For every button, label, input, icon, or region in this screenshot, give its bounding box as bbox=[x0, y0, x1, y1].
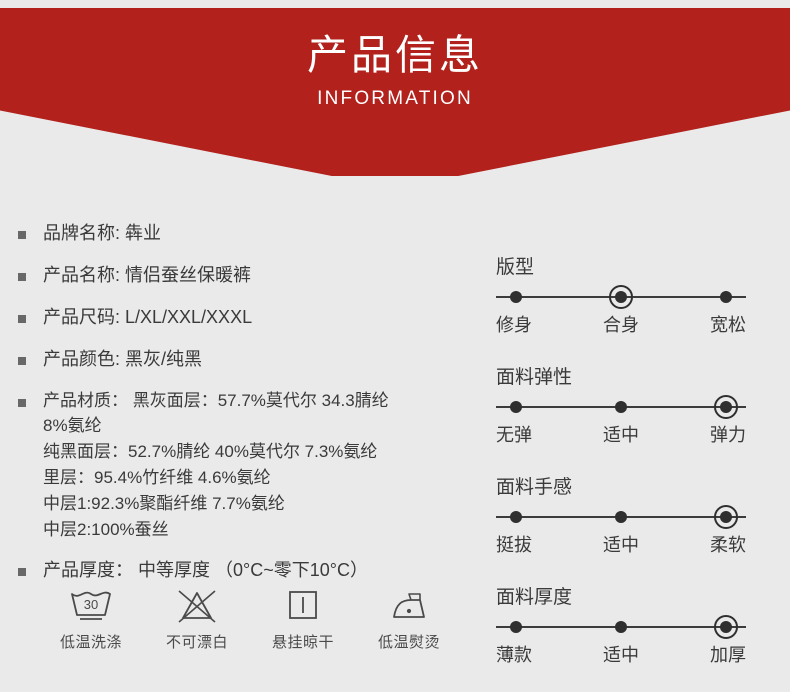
care-item-dry: 悬挂晾干 bbox=[260, 586, 346, 652]
care-label-dry: 悬挂晾干 bbox=[260, 631, 346, 652]
slider-option-thickness-2[interactable]: 加厚 bbox=[710, 641, 746, 667]
iron-one-dot-icon bbox=[366, 586, 452, 628]
spec-row-material: 产品材质： 黑灰面层：57.7%莫代尔 34.3腈纶 8%氨纶 纯黑面层：52.… bbox=[18, 388, 468, 543]
slider-group-fit: 版型 修身 合身 宽松 bbox=[496, 252, 746, 337]
slider-title-fit: 版型 bbox=[496, 252, 746, 279]
slider-labels-thickness: 薄款 适中 加厚 bbox=[496, 641, 746, 667]
slider-dot-elasticity-0[interactable] bbox=[510, 401, 522, 413]
slider-group-thickness: 面料厚度 薄款 适中 加厚 bbox=[496, 582, 746, 667]
no-bleach-triangle-icon bbox=[154, 586, 240, 628]
bullet-square-icon bbox=[18, 231, 26, 239]
slider-dot-handfeel-1[interactable] bbox=[615, 511, 627, 523]
slider-option-elasticity-1[interactable]: 适中 bbox=[603, 421, 639, 447]
slider-option-handfeel-2[interactable]: 柔软 bbox=[710, 531, 746, 557]
slider-option-thickness-1[interactable]: 适中 bbox=[603, 641, 639, 667]
wash-tub-30-icon: 30 bbox=[48, 586, 134, 628]
bullet-square-icon bbox=[18, 399, 26, 407]
spec-color-text: 产品颜色: 黑灰/纯黑 bbox=[43, 346, 202, 374]
slider-option-handfeel-0[interactable]: 挺拔 bbox=[496, 531, 532, 557]
slider-labels-elasticity: 无弹 适中 弹力 bbox=[496, 421, 746, 447]
header-banner-content: 产品信息 INFORMATION bbox=[0, 0, 790, 110]
slider-option-handfeel-1[interactable]: 适中 bbox=[603, 531, 639, 557]
slider-dot-handfeel-0[interactable] bbox=[510, 511, 522, 523]
slider-dot-elasticity-2[interactable] bbox=[720, 401, 732, 413]
spec-thickness-text: 产品厚度： 中等厚度 （0°C~零下10°C） bbox=[43, 557, 368, 585]
spec-row-product-name: 产品名称: 情侣蚕丝保暖裤 bbox=[18, 262, 468, 290]
care-label-wash: 低温洗涤 bbox=[48, 631, 134, 652]
slider-option-fit-1[interactable]: 合身 bbox=[603, 311, 639, 337]
slider-option-fit-0[interactable]: 修身 bbox=[496, 311, 532, 337]
slider-labels-fit: 修身 合身 宽松 bbox=[496, 311, 746, 337]
slider-track-fit[interactable] bbox=[496, 288, 746, 306]
page-subtitle: INFORMATION bbox=[0, 88, 790, 110]
spec-row-thickness: 产品厚度： 中等厚度 （0°C~零下10°C） bbox=[18, 557, 468, 585]
slider-dot-fit-0[interactable] bbox=[510, 291, 522, 303]
slider-dot-fit-2[interactable] bbox=[720, 291, 732, 303]
drip-dry-square-icon bbox=[260, 586, 346, 628]
attribute-sliders: 版型 修身 合身 宽松 面料弹性 无弹 适中 bbox=[496, 252, 746, 692]
slider-track-handfeel[interactable] bbox=[496, 508, 746, 526]
care-label-iron: 低温熨烫 bbox=[366, 631, 452, 652]
slider-option-elasticity-2[interactable]: 弹力 bbox=[710, 421, 746, 447]
bullet-square-icon bbox=[18, 315, 26, 323]
slider-dot-thickness-1[interactable] bbox=[615, 621, 627, 633]
slider-dot-thickness-0[interactable] bbox=[510, 621, 522, 633]
care-item-iron: 低温熨烫 bbox=[366, 586, 452, 652]
slider-option-fit-2[interactable]: 宽松 bbox=[710, 311, 746, 337]
svg-text:30: 30 bbox=[84, 597, 98, 612]
spec-brand-text: 品牌名称: 犇业 bbox=[43, 220, 161, 248]
spec-product-name-text: 产品名称: 情侣蚕丝保暖裤 bbox=[43, 262, 251, 290]
slider-group-elasticity: 面料弹性 无弹 适中 弹力 bbox=[496, 362, 746, 447]
slider-title-thickness: 面料厚度 bbox=[496, 582, 746, 609]
slider-option-elasticity-0[interactable]: 无弹 bbox=[496, 421, 532, 447]
bullet-square-icon bbox=[18, 273, 26, 281]
slider-group-handfeel: 面料手感 挺拔 适中 柔软 bbox=[496, 472, 746, 557]
spec-row-brand: 品牌名称: 犇业 bbox=[18, 220, 468, 248]
slider-dot-thickness-2[interactable] bbox=[720, 621, 732, 633]
bullet-square-icon bbox=[18, 357, 26, 365]
care-label-bleach: 不可漂白 bbox=[154, 631, 240, 652]
page-title: 产品信息 bbox=[0, 30, 790, 81]
slider-track-thickness[interactable] bbox=[496, 618, 746, 636]
care-instructions-row: 30 低温洗涤 不可漂白 悬 bbox=[48, 586, 452, 652]
slider-labels-handfeel: 挺拔 适中 柔软 bbox=[496, 531, 746, 557]
care-item-bleach: 不可漂白 bbox=[154, 586, 240, 652]
slider-track-elasticity[interactable] bbox=[496, 398, 746, 416]
slider-title-handfeel: 面料手感 bbox=[496, 472, 746, 499]
slider-dot-fit-1[interactable] bbox=[615, 291, 627, 303]
slider-title-elasticity: 面料弹性 bbox=[496, 362, 746, 389]
bullet-square-icon bbox=[18, 568, 26, 576]
spec-list: 品牌名称: 犇业 产品名称: 情侣蚕丝保暖裤 产品尺码: L/XL/XXL/XX… bbox=[18, 220, 468, 598]
slider-dot-handfeel-2[interactable] bbox=[720, 511, 732, 523]
spec-material-text: 产品材质： 黑灰面层：57.7%莫代尔 34.3腈纶 8%氨纶 纯黑面层：52.… bbox=[43, 388, 389, 543]
slider-option-thickness-0[interactable]: 薄款 bbox=[496, 641, 532, 667]
content-area: 品牌名称: 犇业 产品名称: 情侣蚕丝保暖裤 产品尺码: L/XL/XXL/XX… bbox=[0, 176, 790, 687]
spec-size-text: 产品尺码: L/XL/XXL/XXXL bbox=[43, 304, 252, 332]
care-item-wash: 30 低温洗涤 bbox=[48, 586, 134, 652]
spec-row-color: 产品颜色: 黑灰/纯黑 bbox=[18, 346, 468, 374]
spec-row-size: 产品尺码: L/XL/XXL/XXXL bbox=[18, 304, 468, 332]
slider-dot-elasticity-1[interactable] bbox=[615, 401, 627, 413]
